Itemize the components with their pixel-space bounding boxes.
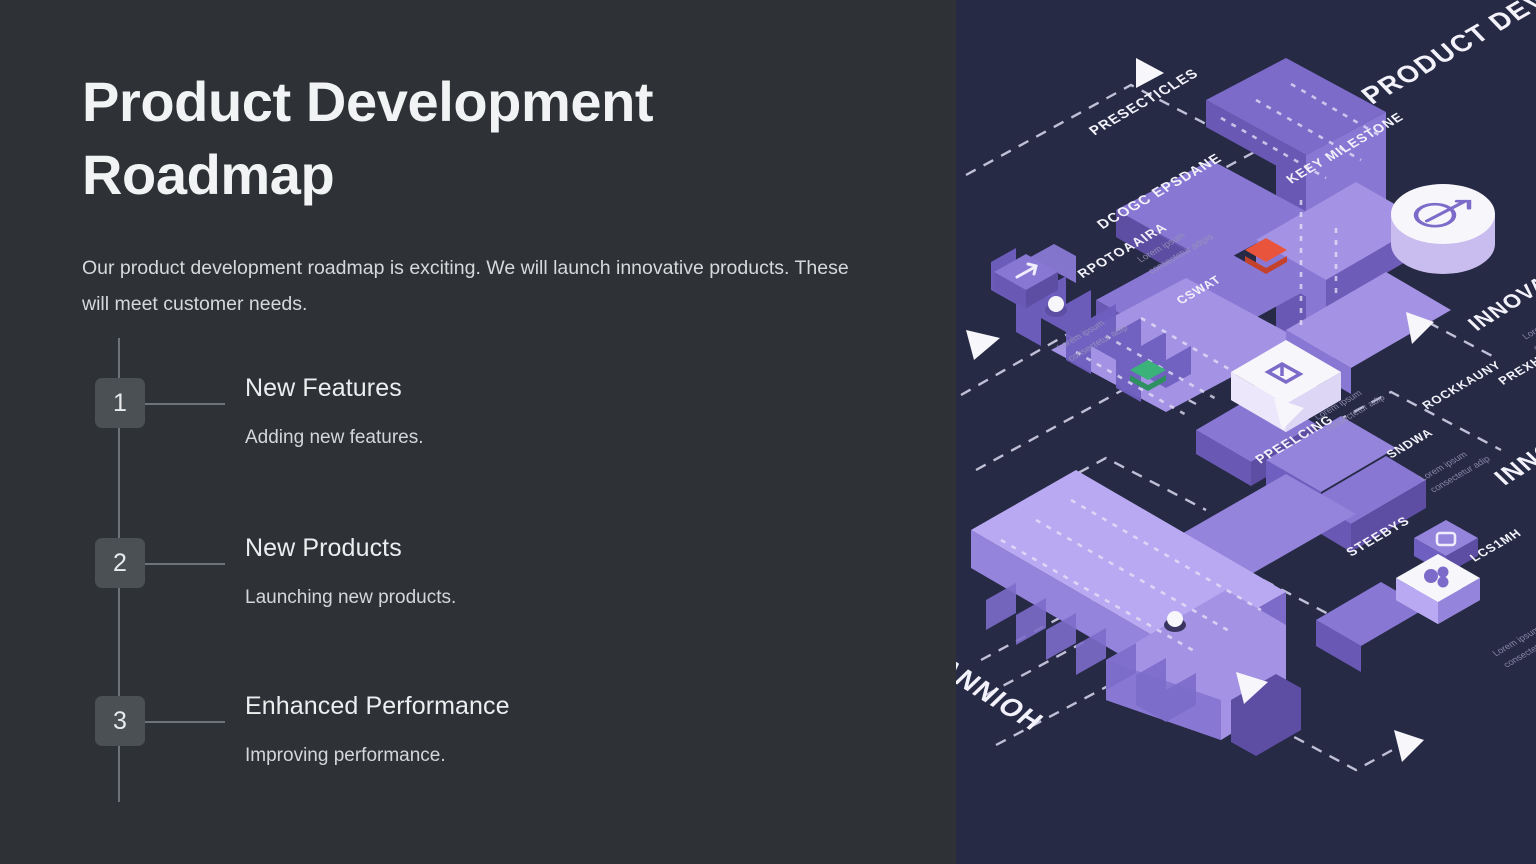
- timeline: 1 New Features Adding new features. 2 Ne…: [82, 338, 882, 808]
- step-body: New Products Launching new products.: [245, 534, 865, 609]
- step-title: New Features: [245, 374, 865, 403]
- step-description: Improving performance.: [245, 745, 865, 767]
- step-body: New Features Adding new features.: [245, 374, 865, 449]
- rocket-milestone-icon: [1391, 184, 1495, 274]
- step-body: Enhanced Performance Improving performan…: [245, 692, 865, 767]
- step-title: New Products: [245, 534, 865, 563]
- isometric-roadmap-illustration: PRODUCT DEVELOPPMENT PRESECTICLES KEEY M…: [956, 0, 1536, 864]
- step-number-badge: 2: [95, 538, 145, 588]
- step-description: Adding new features.: [245, 427, 865, 449]
- step-number-badge: 3: [95, 696, 145, 746]
- left-content-panel: Product Development Roadmap Our product …: [0, 0, 956, 864]
- illustration-panel: PRODUCT DEVELOPPMENT PRESECTICLES KEEY M…: [956, 0, 1536, 864]
- step-description: Launching new products.: [245, 587, 865, 609]
- step-number-badge: 1: [95, 378, 145, 428]
- page-title: Product Development Roadmap: [82, 66, 802, 212]
- step-connector-line: [145, 563, 225, 565]
- intro-paragraph: Our product development roadmap is excit…: [82, 250, 852, 322]
- step-connector-line: [145, 403, 225, 405]
- step-title: Enhanced Performance: [245, 692, 865, 721]
- step-connector-line: [145, 721, 225, 723]
